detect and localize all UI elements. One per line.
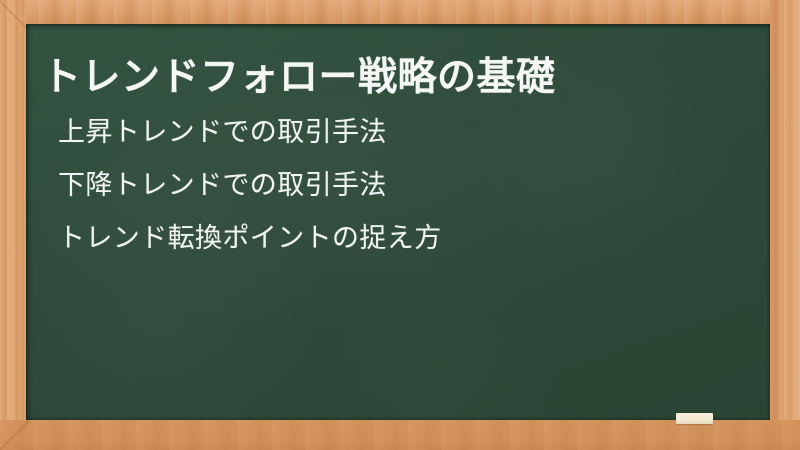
topic-list: 上昇トレンドでの取引手法 下降トレンドでの取引手法 トレンド転換ポイントの捉え方 bbox=[58, 106, 442, 265]
topic-list-item: 下降トレンドでの取引手法 bbox=[58, 159, 442, 212]
frame-ledge-bottom bbox=[0, 420, 800, 450]
board-title: トレンドフォロー戦略の基礎 bbox=[42, 58, 556, 97]
blackboard-scene: トレンドフォロー戦略の基礎 上昇トレンドでの取引手法 下降トレンドでの取引手法 … bbox=[0, 0, 800, 450]
chalk-stick bbox=[676, 413, 713, 424]
chalkboard-surface: トレンドフォロー戦略の基礎 上昇トレンドでの取引手法 下降トレンドでの取引手法 … bbox=[26, 24, 770, 420]
topic-list-item: 上昇トレンドでの取引手法 bbox=[58, 106, 442, 159]
frame-rail-top bbox=[0, 0, 800, 25]
frame-rail-right bbox=[770, 0, 800, 450]
frame-rail-left bbox=[0, 0, 26, 450]
topic-list-item: トレンド転換ポイントの捉え方 bbox=[58, 212, 442, 265]
board-content: トレンドフォロー戦略の基礎 上昇トレンドでの取引手法 下降トレンドでの取引手法 … bbox=[26, 24, 770, 420]
